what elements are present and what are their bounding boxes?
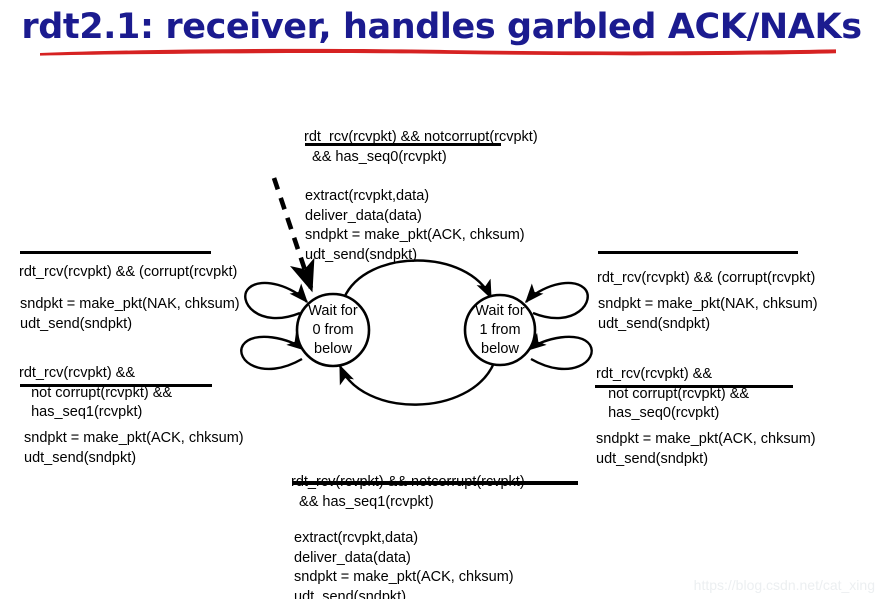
annotation-top-action-block: extract(rcvpkt,data) deliver_data(data) … <box>305 148 525 304</box>
annotation-left-bottom-action: sndpkt = make_pkt(ACK, chksum) udt_send(… <box>20 429 244 468</box>
annotation-bottom-action: extract(rcvpkt,data) deliver_data(data) … <box>294 529 514 599</box>
annotation-right-bottom-divider <box>595 385 793 388</box>
annotation-top-divider <box>305 143 501 146</box>
annotation-left-bottom-divider <box>20 384 212 387</box>
annotation-right-top-divider <box>598 251 798 254</box>
state-label-wait0: Wait for 0 from below <box>291 302 375 359</box>
annotation-bottom-divider <box>292 481 578 485</box>
slide-canvas: rdt2.1: receiver, handles garbled ACK/NA… <box>0 0 883 599</box>
annotation-bottom-action-block: extract(rcvpkt,data) deliver_data(data) … <box>294 490 514 599</box>
state-label-wait1: Wait for 1 from below <box>458 302 542 359</box>
annotation-right-bottom-action: sndpkt = make_pkt(ACK, chksum) udt_send(… <box>596 430 816 469</box>
annotation-right-bottom-action-block: sndpkt = make_pkt(ACK, chksum) udt_send(… <box>596 391 816 508</box>
transition-arc-bottom <box>340 363 494 405</box>
watermark: https://blog.csdn.net/cat_xing <box>694 577 875 593</box>
annotation-left-top-divider <box>20 251 211 254</box>
annotation-top-action: extract(rcvpkt,data) deliver_data(data) … <box>305 187 525 265</box>
annotation-left-bottom-action-block: sndpkt = make_pkt(ACK, chksum) udt_send(… <box>20 390 244 507</box>
